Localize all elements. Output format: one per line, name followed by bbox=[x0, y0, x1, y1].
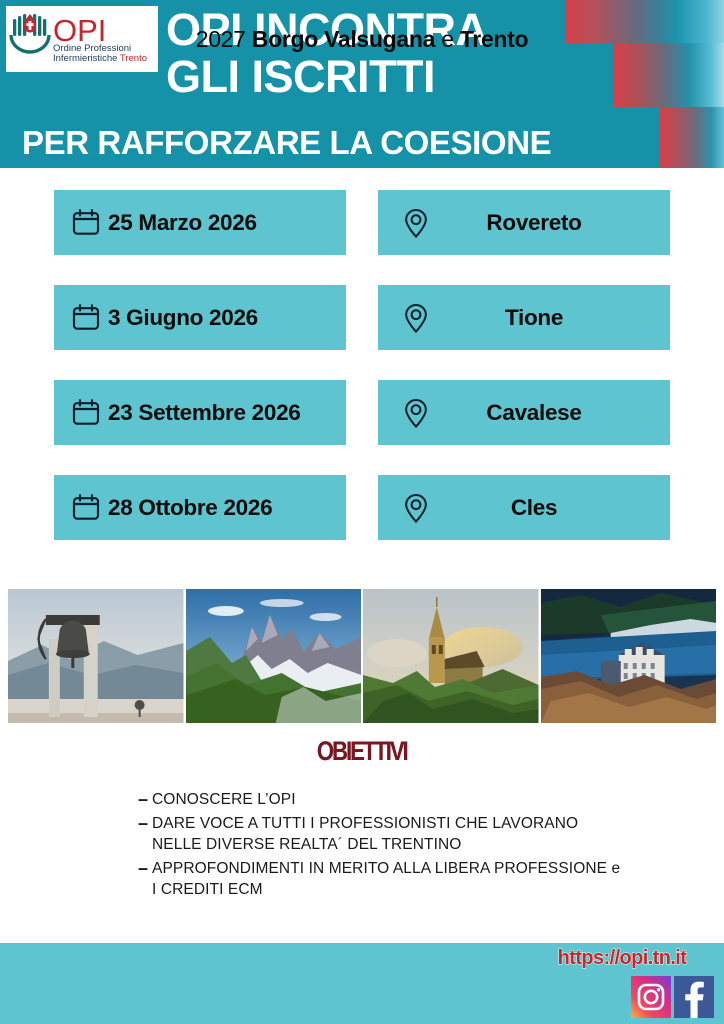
footer-year: 2027 bbox=[196, 26, 252, 52]
objective-text: APPROFONDIMENTI IN MERITO ALLA LIBERA PR… bbox=[152, 858, 620, 901]
photo-campana-dei-caduti-rovereto bbox=[8, 589, 184, 723]
objective-line: I CREDITI ECM bbox=[152, 881, 263, 898]
objective-line: NELLE DIVERSE REALTA´ DEL TRENTINO bbox=[152, 836, 461, 853]
photo-strip bbox=[8, 589, 716, 723]
objective-bullet-dash: – bbox=[138, 813, 152, 834]
map-pin-icon bbox=[400, 207, 432, 239]
schedule-date-label: 25 Marzo 2026 bbox=[108, 210, 257, 236]
schedule-date-chip[interactable]: 25 Marzo 2026 bbox=[54, 190, 346, 255]
objective-text: DARE VOCE A TUTTI I PROFESSIONISTI CHE L… bbox=[152, 813, 578, 856]
schedule-place-label: Cles bbox=[432, 495, 636, 521]
opi-logo-subtitle-2a: Infermieristiche bbox=[53, 53, 120, 64]
schedule-place-chip[interactable]: Rovereto bbox=[378, 190, 670, 255]
schedule-place-label: Cavalese bbox=[432, 400, 636, 426]
footer-city-1: Borgo Valsugana bbox=[252, 26, 435, 52]
objective-line: DARE VOCE A TUTTI I PROFESSIONISTI CHE L… bbox=[152, 815, 578, 832]
footer-conjunction: e bbox=[435, 26, 460, 52]
schedule-date-label: 28 Ottobre 2026 bbox=[108, 495, 272, 521]
website-url[interactable]: https://opi.tn.it bbox=[527, 947, 717, 970]
schedule-place-label: Rovereto bbox=[432, 210, 636, 236]
schedule-date-chip[interactable]: 3 Giugno 2026 bbox=[54, 285, 346, 350]
schedule-row: 3 Giugno 2026 Tione bbox=[0, 285, 724, 380]
map-pin-icon bbox=[400, 397, 432, 429]
objective-item: – DARE VOCE A TUTTI I PROFESSIONISTI CHE… bbox=[138, 813, 698, 856]
objective-item: – APPROFONDIMENTI IN MERITO ALLA LIBERA … bbox=[138, 858, 698, 901]
schedule-row: 23 Settembre 2026 Cavalese bbox=[0, 380, 724, 475]
objective-line: CONOSCERE L’OPI bbox=[152, 791, 296, 808]
photo-castel-cles-lake bbox=[541, 589, 717, 723]
schedule-place-chip[interactable]: Cles bbox=[378, 475, 670, 540]
facebook-link[interactable] bbox=[674, 976, 714, 1018]
objective-text: CONOSCERE L’OPI bbox=[152, 789, 296, 811]
objective-bullet-dash: – bbox=[138, 858, 152, 879]
poster-root: OPI Ordine Professioni Infermieristiche … bbox=[0, 0, 724, 1024]
instagram-link[interactable] bbox=[631, 976, 671, 1018]
photo-cavalese-bell-tower-sunset bbox=[363, 589, 539, 723]
schedule-date-chip[interactable]: 23 Settembre 2026 bbox=[54, 380, 346, 445]
map-pin-icon bbox=[400, 302, 432, 334]
objectives-heading-text: OBIETTIVI bbox=[317, 736, 407, 767]
objective-line: APPROFONDIMENTI IN MERITO ALLA LIBERA PR… bbox=[152, 860, 620, 877]
objectives-list: – CONOSCERE L’OPI – DARE VOCE A TUTTI I … bbox=[138, 789, 698, 903]
schedule-list: 25 Marzo 2026 Rovereto 3 Giugno 2026 bbox=[0, 190, 724, 570]
poster-title: OPI INCONTRA GLI ISCRITTI bbox=[166, 6, 566, 101]
calendar-icon bbox=[70, 302, 102, 334]
opi-logo-subtitle-2: Infermieristiche Trento bbox=[53, 54, 147, 64]
schedule-date-chip[interactable]: 28 Ottobre 2026 bbox=[54, 475, 346, 540]
schedule-row: 28 Ottobre 2026 Cles bbox=[0, 475, 724, 570]
photo-dolomiti-mountains bbox=[186, 589, 362, 723]
objective-item: – CONOSCERE L’OPI bbox=[138, 789, 698, 811]
footer-city-2: Trento bbox=[460, 26, 528, 52]
schedule-place-label: Tione bbox=[432, 305, 636, 331]
social-links bbox=[631, 976, 714, 1018]
calendar-icon bbox=[70, 397, 102, 429]
objectives-heading: OBIETTIVI bbox=[0, 736, 724, 767]
schedule-date-label: 3 Giugno 2026 bbox=[108, 305, 258, 331]
poster-subtitle: PER RAFFORZARE LA COESIONE bbox=[22, 124, 551, 162]
calendar-icon bbox=[70, 492, 102, 524]
header-accent-rect-3 bbox=[660, 107, 724, 168]
objective-bullet-dash: – bbox=[138, 789, 152, 810]
schedule-row: 25 Marzo 2026 Rovereto bbox=[0, 190, 724, 285]
opi-logo-city: Trento bbox=[120, 53, 147, 64]
calendar-icon bbox=[70, 207, 102, 239]
schedule-date-label: 23 Settembre 2026 bbox=[108, 400, 301, 426]
facebook-icon bbox=[674, 976, 714, 1018]
schedule-place-chip[interactable]: Tione bbox=[378, 285, 670, 350]
poster-title-line-2: GLI ISCRITTI bbox=[166, 53, 566, 100]
instagram-icon bbox=[631, 976, 671, 1018]
schedule-place-chip[interactable]: Cavalese bbox=[378, 380, 670, 445]
map-pin-icon bbox=[400, 492, 432, 524]
footer-next-edition: 2027 Borgo Valsugana e Trento bbox=[0, 26, 724, 53]
